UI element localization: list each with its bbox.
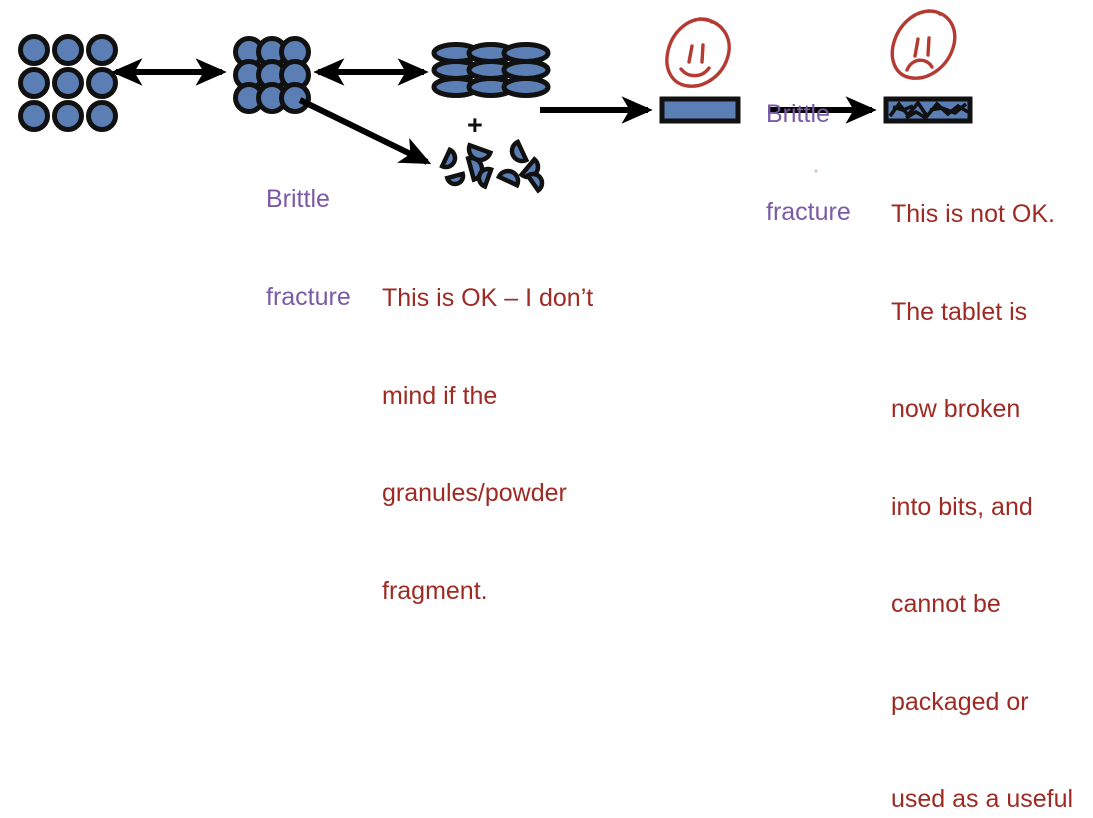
not-ok-caption-line-3: now broken bbox=[891, 393, 1073, 426]
particle bbox=[89, 70, 116, 97]
not-ok-caption-line-7: used as a useful bbox=[891, 783, 1073, 816]
particle bbox=[89, 103, 116, 130]
stage-loose-particles bbox=[21, 37, 116, 130]
compressed-particle bbox=[504, 45, 548, 62]
brittle-fracture-left-line1: Brittle bbox=[266, 183, 351, 216]
not-ok-caption-line-1: This is not OK. bbox=[891, 198, 1073, 231]
ok-caption-line-3: granules/powder bbox=[382, 477, 593, 510]
ok-caption-line-2: mind if the bbox=[382, 380, 593, 413]
eye-left bbox=[915, 39, 918, 56]
fragment bbox=[447, 174, 465, 186]
particle bbox=[282, 85, 309, 112]
brittle-fracture-label-left: Brittle fracture bbox=[266, 118, 351, 346]
plus-sign: + bbox=[467, 112, 483, 139]
happy-face bbox=[667, 19, 729, 86]
particle bbox=[55, 103, 82, 130]
smile-mouth bbox=[681, 68, 709, 76]
not-ok-caption-line-6: packaged or bbox=[891, 686, 1073, 719]
ok-caption-line-4: fragment. bbox=[382, 575, 593, 608]
stage-fragments bbox=[442, 142, 545, 190]
compressed-particle bbox=[504, 62, 548, 79]
brittle-fracture-right-line1: Brittle bbox=[766, 98, 851, 131]
frown-mouth bbox=[907, 60, 932, 70]
particle bbox=[55, 70, 82, 97]
fragment bbox=[509, 142, 527, 164]
ok-caption: This is OK – I don’t mind if the granule… bbox=[382, 217, 593, 640]
brittle-fracture-label-right: Brittle fracture bbox=[766, 33, 851, 261]
brittle-fracture-left-line2: fracture bbox=[266, 281, 351, 314]
eye-right bbox=[702, 45, 703, 62]
not-ok-caption: This is not OK. The tablet is now broken… bbox=[891, 133, 1073, 818]
particle bbox=[21, 70, 48, 97]
fragment bbox=[442, 150, 458, 170]
sad-face bbox=[892, 11, 955, 78]
not-ok-caption-line-5: cannot be bbox=[891, 588, 1073, 621]
brittle-fracture-right-line2: fracture bbox=[766, 196, 851, 229]
fragment bbox=[499, 168, 521, 186]
stage-intact-tablet bbox=[662, 99, 738, 121]
particle bbox=[55, 37, 82, 64]
eye-left bbox=[689, 46, 692, 62]
particle bbox=[21, 103, 48, 130]
particle bbox=[21, 37, 48, 64]
stage-packed-particles bbox=[236, 39, 309, 112]
particle bbox=[89, 37, 116, 64]
not-ok-caption-line-2: The tablet is bbox=[891, 296, 1073, 329]
face-outline bbox=[892, 11, 955, 78]
tablet-body bbox=[662, 99, 738, 121]
stage-compressed-particles bbox=[434, 45, 548, 96]
not-ok-caption-line-4: into bits, and bbox=[891, 491, 1073, 524]
stage-broken-tablet bbox=[886, 99, 970, 121]
eye-right bbox=[928, 38, 929, 55]
compressed-particle bbox=[504, 79, 548, 96]
fragment bbox=[528, 170, 546, 190]
ok-caption-line-1: This is OK – I don’t bbox=[382, 282, 593, 315]
